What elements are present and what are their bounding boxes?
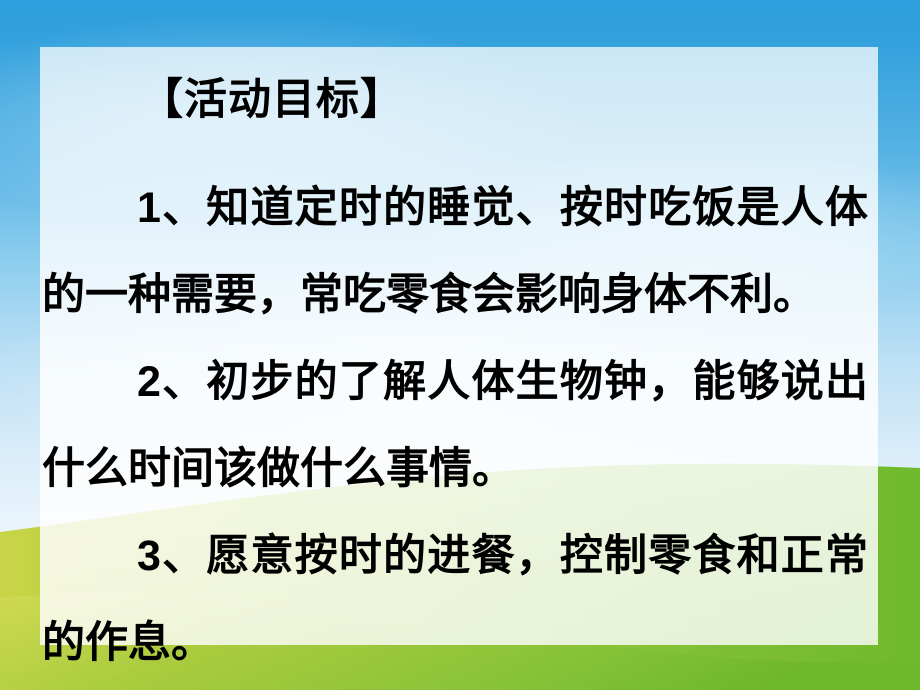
presentation-slide: 【活动目标】 1、知道定时的睡觉、按时吃饭是人体的一种需要，常吃零食会影响身体不… bbox=[0, 0, 920, 690]
objective-item-1: 1、知道定时的睡觉、按时吃饭是人体的一种需要，常吃零食会影响身体不利。 bbox=[40, 165, 878, 339]
slide-text-container: 【活动目标】 1、知道定时的睡觉、按时吃饭是人体的一种需要，常吃零食会影响身体不… bbox=[40, 47, 878, 645]
objective-item-2: 2、初步的了解人体生物钟，能够说出什么时间该做什么事情。 bbox=[40, 339, 878, 513]
page-title: 【活动目标】 bbox=[140, 75, 404, 126]
objective-item-3: 3、愿意按时的进餐，控制零食和正常的作息。 bbox=[40, 513, 878, 687]
